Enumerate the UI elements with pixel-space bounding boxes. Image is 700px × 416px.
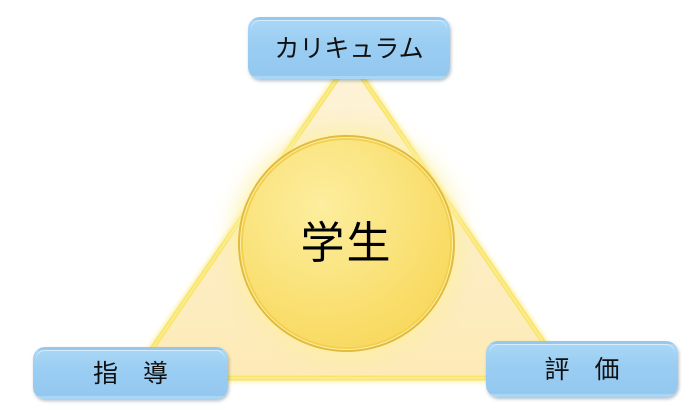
node-curriculum-label: カリキュラム: [274, 36, 423, 61]
node-curriculum[interactable]: カリキュラム: [248, 17, 450, 79]
node-evaluation[interactable]: 評 価: [486, 341, 678, 397]
node-evaluation-label: 評 価: [544, 357, 619, 382]
center-node-student[interactable]: 学生: [243, 140, 450, 347]
center-node-label: 学生: [301, 222, 393, 266]
node-instruction-label: 指 導: [93, 361, 168, 386]
diagram-canvas: 学生 カリキュラム 指 導 評 価: [0, 0, 700, 416]
node-instruction[interactable]: 指 導: [33, 347, 228, 399]
